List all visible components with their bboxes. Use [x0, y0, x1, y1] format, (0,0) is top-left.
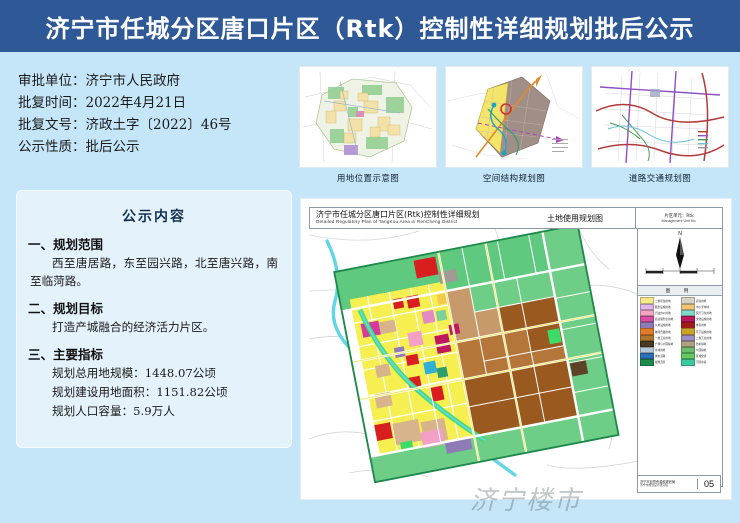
legend-item: 区域交通	[681, 354, 720, 359]
meta-row: 审批单位：济宁市人民政府	[18, 70, 286, 92]
land-location-diagram[interactable]	[299, 66, 437, 168]
section-scope: 一、规划范围 西至唐居路，东至园兴路，北至唐兴路，南至临菏路。	[16, 235, 292, 290]
legend-label: 文化设施用地	[696, 317, 712, 321]
legend-header: 图 例	[638, 286, 722, 296]
map-unit-en: Management Unit No.	[662, 219, 697, 223]
legend-label: 水域用地	[655, 348, 665, 352]
meta-value: 济政土字〔2022〕46号	[86, 114, 232, 136]
land-use-plan-panel[interactable]: 济宁市任城分区唐口片区(Rtk)控制性详细规划 Detailed Regulat…	[300, 198, 732, 500]
meta-row: 公示性质：批后公示	[18, 136, 286, 158]
poster-header: 济宁市任城分区唐口片区（Rtk）控制性详细规划批后公示	[0, 0, 740, 52]
meta-row: 批复时间：2022年4月21日	[18, 92, 286, 114]
map-titlebar: 济宁市任城分区唐口片区(Rtk)控制性详细规划 Detailed Regulat…	[309, 207, 723, 229]
legend-item: 一类工业用地	[640, 335, 679, 340]
legend-label: 医疗卫生用地	[696, 311, 712, 315]
map-legend-panel: N 图 例 二类居住用地 商住用地 服务设施用地 中小学用地 行政办公	[637, 229, 723, 487]
indicator-item: 规划人口容量：5.9万人	[16, 402, 292, 421]
legend-label: 行政办公用地	[655, 311, 671, 315]
legend-label: 环卫设施用地	[696, 330, 712, 334]
thumbnail-caption: 用地位置示意图	[337, 172, 399, 184]
svg-text:N: N	[678, 231, 682, 237]
content-title: 公示内容	[16, 206, 292, 226]
section-goal: 二、规划目标 打造产城融合的经济活力片区。	[16, 299, 292, 336]
legend-label: 商业服务业用地	[655, 317, 673, 321]
legend-item: 水域用地	[640, 348, 679, 353]
sheet-page-number: 05	[697, 479, 720, 489]
legend-item: 中小学用地	[681, 304, 720, 309]
legend-item: 规划范围	[640, 360, 679, 365]
legend-item: 城市道路	[640, 354, 679, 359]
meta-label: 批复文号：	[18, 114, 86, 136]
spatial-structure-plan[interactable]	[445, 66, 583, 168]
section-indicators: 三、主要指标 规划总用地规模：1448.07公顷 规划建设用地面积：1151.8…	[16, 345, 292, 421]
sheet-issuer: 济宁市自然资源和规划局 济宁市规划设计研究院	[638, 481, 697, 487]
legend-label: 城市道路	[655, 354, 665, 358]
indicator-item: 规划总用地规模：1448.07公顷	[16, 364, 292, 383]
map-title-en: Detailed Regulatory Plan of TangKou Area…	[316, 220, 515, 225]
legend-item: 二类居住用地	[640, 298, 679, 303]
meta-value: 济宁市人民政府	[86, 70, 181, 92]
meta-value: 批后公示	[86, 136, 140, 158]
legend-label: 一类工业用地	[655, 336, 671, 340]
indicator-item: 规划建设用地面积：1151.82公顷	[16, 383, 292, 402]
thumbnail-strip: 用地位置示意图	[300, 66, 728, 188]
legend-item: 环卫设施用地	[681, 329, 720, 334]
approval-metadata: 审批单位：济宁市人民政府 批复时间：2022年4月21日 批复文号：济政土字〔2…	[18, 70, 286, 158]
map-unit-block: 片区单元：Rtk Management Unit No.	[635, 208, 722, 228]
north-arrow-box: N	[638, 229, 722, 286]
meta-label: 公示性质：	[18, 136, 86, 158]
section-heading: 二、规划目标	[16, 299, 292, 318]
thumbnail-caption: 空间结构规划图	[483, 172, 545, 184]
legend-label: 河流水系	[696, 360, 706, 364]
legend-swatch	[640, 359, 654, 365]
legend-item: 商住用地	[681, 298, 720, 303]
meta-label: 审批单位：	[18, 70, 86, 92]
map-sheet-name: 土地使用规划图	[515, 213, 635, 224]
legend-swatch	[681, 359, 695, 365]
section-heading: 一、规划范围	[16, 235, 292, 254]
legend-label: 物流仓储用地	[655, 330, 671, 334]
thumbnail-caption: 道路交通规划图	[629, 172, 691, 184]
legend-item: 文化设施用地	[681, 317, 720, 322]
thumbnail-spatial-structure[interactable]: 空间结构规划图	[446, 66, 582, 188]
legend-item: 河流水系	[681, 360, 720, 365]
section-heading: 三、主要指标	[16, 345, 292, 364]
legend-items: 二类居住用地 商住用地 服务设施用地 中小学用地 行政办公用地 医疗卫生用地 商…	[638, 296, 722, 486]
legend-label: 体育用地	[696, 323, 706, 327]
legend-label: 二类工业用地	[696, 336, 712, 340]
legend-item: 行政办公用地	[640, 310, 679, 315]
road-traffic-plan[interactable]	[591, 66, 729, 168]
map-title-block: 济宁市任城分区唐口片区(Rtk)控制性详细规划 Detailed Regulat…	[310, 211, 515, 224]
issuer-line-2: 济宁市规划设计研究院	[640, 484, 697, 487]
legend-label: 二类居住用地	[655, 299, 671, 303]
thumbnail-road-traffic[interactable]: 道路交通规划图	[592, 66, 728, 188]
publicity-content-card: 公示内容 一、规划范围 西至唐居路，东至园兴路，北至唐兴路，南至临菏路。 二、规…	[16, 190, 292, 448]
meta-row: 批复文号：济政土字〔2022〕46号	[18, 114, 286, 136]
publicity-poster: 济宁市任城分区唐口片区（Rtk）控制性详细规划批后公示 审批单位：济宁市人民政府…	[0, 0, 740, 523]
legend-label: 公用设施用地	[655, 323, 671, 327]
sheet-number-box: 济宁市自然资源和规划局 济宁市规划设计研究院 05	[637, 475, 721, 493]
legend-item: 二类工业用地	[681, 335, 720, 340]
legend-label: 中小学用地	[696, 305, 709, 309]
section-body: 西至唐居路，东至园兴路，北至唐兴路，南至临菏路。	[16, 254, 292, 290]
legend-item: 服务设施用地	[640, 304, 679, 309]
meta-label: 批复时间：	[18, 92, 86, 114]
legend-item: 公园绿地	[681, 348, 720, 353]
legend-item: 医疗卫生用地	[681, 310, 720, 315]
legend-item: 防护绿地	[681, 341, 720, 346]
legend-item: 广场与公园绿地	[640, 341, 679, 346]
legend-label: 规划范围	[655, 360, 665, 364]
legend-label: 广场与公园绿地	[655, 342, 673, 346]
map-drawing[interactable]	[309, 229, 639, 487]
legend-item: 商业服务业用地	[640, 317, 679, 322]
legend-label: 区域交通	[696, 354, 706, 358]
thumbnail-land-location[interactable]: 用地位置示意图	[300, 66, 436, 188]
legend-label: 商住用地	[696, 299, 706, 303]
legend-item: 物流仓储用地	[640, 329, 679, 334]
legend-item: 公用设施用地	[640, 323, 679, 328]
legend-item: 体育用地	[681, 323, 720, 328]
page-title: 济宁市任城分区唐口片区（Rtk）控制性详细规划批后公示	[46, 9, 695, 44]
meta-value: 2022年4月21日	[86, 92, 187, 114]
section-body: 打造产城融合的经济活力片区。	[16, 318, 292, 336]
legend-label: 公园绿地	[696, 348, 706, 352]
legend-label: 防护绿地	[696, 342, 706, 346]
legend-label: 服务设施用地	[655, 305, 671, 309]
